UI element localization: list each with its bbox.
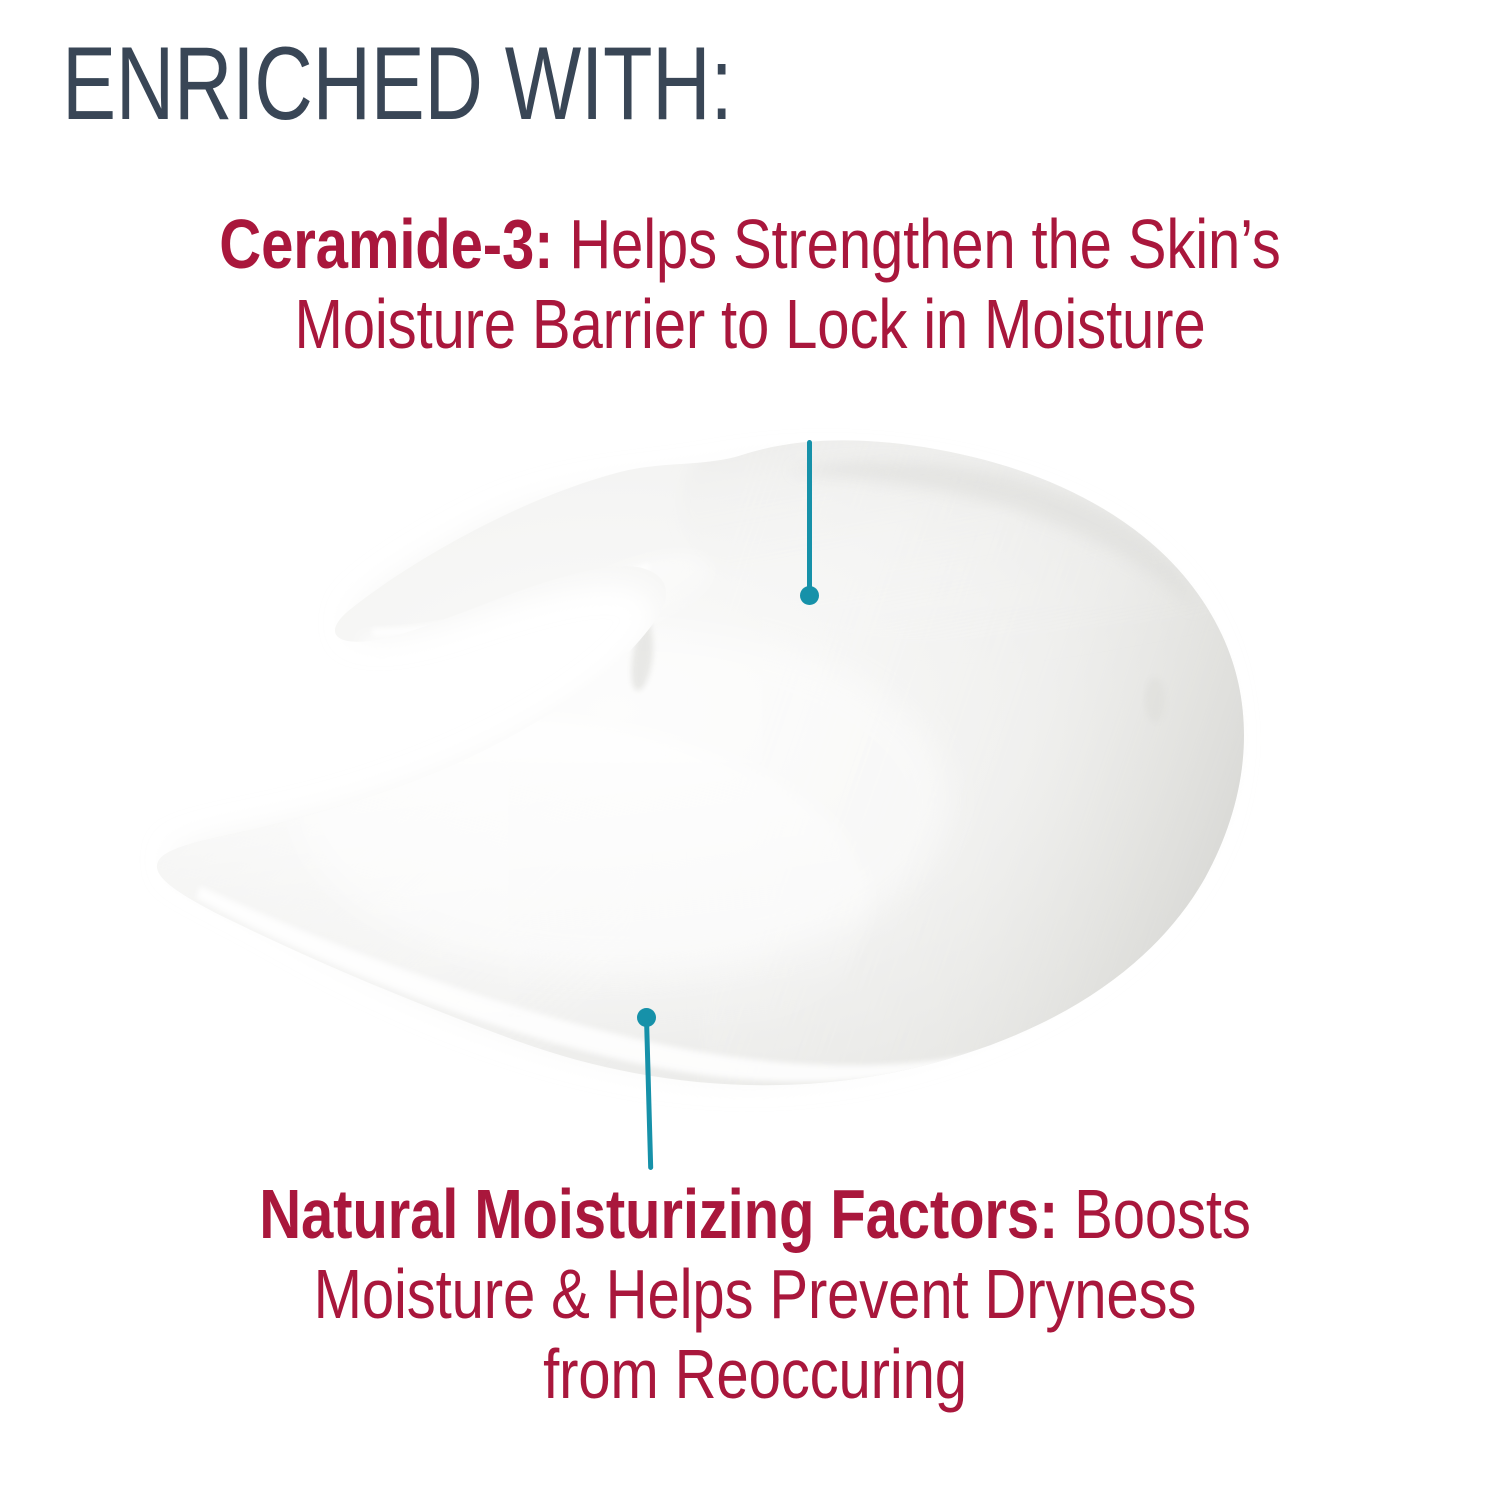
blob-shadow	[172, 465, 1224, 1075]
page-title: ENRICHED WITH:	[62, 32, 733, 136]
caption-nmf-line-3: from Reoccuring	[178, 1335, 1332, 1415]
callout-stem	[807, 440, 812, 595]
product-infographic: ENRICHED WITH: Ceramide-3: Helps Strengt…	[0, 0, 1500, 1500]
callout-stem	[644, 1018, 653, 1170]
callout-line-dot-icon-nmf	[634, 1008, 664, 1173]
caption-natural-moisturizing-factors: Natural Moisturizing Factors: Boosts Moi…	[60, 1175, 1450, 1414]
ingredient-name-ceramide: Ceramide-3:	[219, 205, 553, 283]
callout-dot	[800, 586, 819, 605]
ingredient-name-nmf: Natural Moisturizing Factors:	[259, 1175, 1058, 1253]
caption-nmf-line-1-rest: Boosts	[1058, 1175, 1251, 1253]
caption-ceramide-line-2: Moisture Barrier to Lock in Moisture	[161, 285, 1340, 365]
caption-ceramide: Ceramide-3: Helps Strengthen the Skin’s …	[40, 205, 1460, 365]
caption-ceramide-line-1: Ceramide-3: Helps Strengthen the Skin’s	[161, 205, 1340, 285]
caption-ceramide-line-1-rest: Helps Strengthen the Skin’s	[553, 205, 1280, 283]
caption-nmf-line-1: Natural Moisturizing Factors: Boosts	[178, 1175, 1332, 1255]
callout-line-dot-icon-ceramide	[797, 440, 827, 620]
blob-body	[157, 440, 1244, 1085]
caption-nmf-line-2: Moisture & Helps Prevent Dryness	[178, 1255, 1332, 1335]
